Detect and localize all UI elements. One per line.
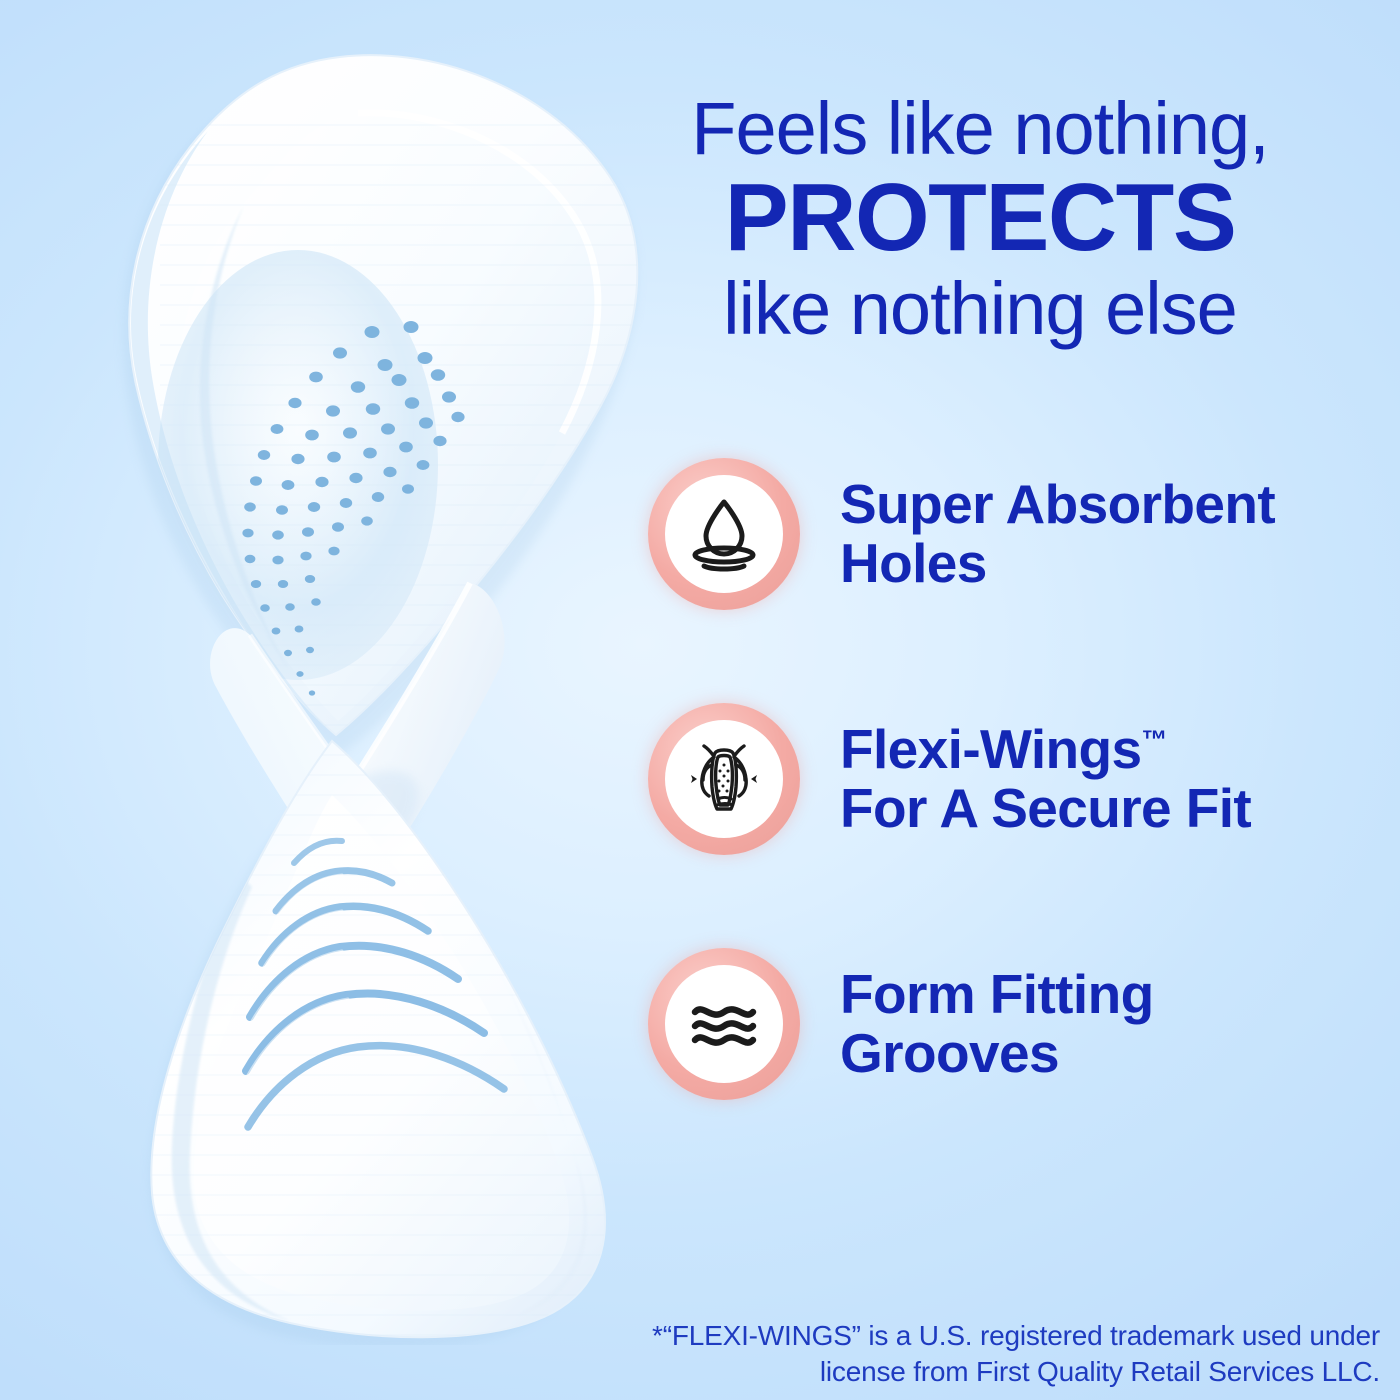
pad-twist-crossover	[210, 583, 505, 1031]
feature-badge-1	[648, 458, 800, 610]
marketing-image-canvas: Feels like nothing, PROTECTS like nothin…	[0, 0, 1400, 1400]
form-fitting-grooves	[246, 841, 504, 1127]
feature-label-1-line-1: Super Absorbent	[840, 475, 1275, 534]
headline-line-1: Feels like nothing,	[600, 92, 1360, 166]
footnote-line-1: *“FLEXI-WINGS” is a U.S. registered trad…	[430, 1318, 1380, 1354]
feature-label-3-line-1: Form Fitting	[840, 965, 1154, 1024]
feature-item-form-fitting-grooves: Form Fitting Grooves	[648, 948, 1154, 1100]
trademark-symbol: ™	[1142, 725, 1168, 755]
badge-inner-circle-3	[665, 965, 783, 1083]
feature-label-3-line-2: Grooves	[840, 1024, 1154, 1083]
feature-label-2-line-2: For A Secure Fit	[840, 779, 1251, 838]
headline: Feels like nothing, PROTECTS like nothin…	[600, 92, 1360, 346]
feature-badge-3	[648, 948, 800, 1100]
feature-label-2-text: Flexi-Wings	[840, 718, 1142, 780]
water-drop-absorbency-icon	[682, 492, 766, 576]
feature-label-1: Super Absorbent Holes	[840, 475, 1275, 593]
headline-line-3: like nothing else	[600, 272, 1360, 346]
feature-label-2-line-1: Flexi-Wings™	[840, 720, 1251, 779]
pad-top-section	[129, 55, 640, 735]
feature-badge-2	[648, 703, 800, 855]
feature-item-flexi-wings: Flexi-Wings™ For A Secure Fit	[648, 703, 1251, 855]
nonwoven-texture	[160, 125, 640, 725]
pad-bottom-section	[140, 741, 620, 1337]
product-shadow	[123, 74, 637, 1345]
wavy-grooves-icon	[681, 981, 767, 1067]
footnote-line-2: license from First Quality Retail Servic…	[430, 1354, 1380, 1390]
trademark-footnote: *“FLEXI-WINGS” is a U.S. registered trad…	[430, 1318, 1380, 1390]
headline-line-2-protects: PROTECTS	[600, 170, 1360, 266]
feature-label-2: Flexi-Wings™ For A Secure Fit	[840, 720, 1251, 838]
badge-inner-circle-2	[665, 720, 783, 838]
feature-item-super-absorbent-holes: Super Absorbent Holes	[648, 458, 1275, 610]
feature-label-3: Form Fitting Grooves	[840, 965, 1154, 1083]
absorbent-holes-pattern	[242, 321, 464, 696]
pad-with-wings-icon	[680, 735, 768, 823]
feature-label-1-line-2: Holes	[840, 534, 1275, 593]
badge-inner-circle-1	[665, 475, 783, 593]
